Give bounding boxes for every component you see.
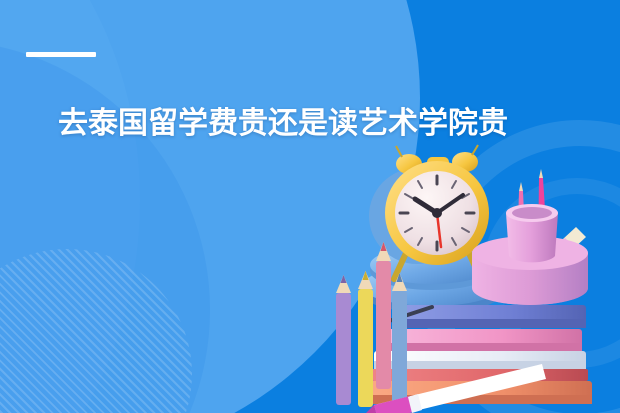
background-shade-circle [0,40,210,413]
pencil-pink [376,242,391,389]
pencil-purple [336,275,351,405]
decorative-rule [26,52,96,57]
background-striped-arc [0,249,192,413]
study-supplies-illustration [314,143,614,413]
promo-banner: 去泰国留学费贵还是读艺术学院贵 [0,0,620,413]
pencil-yellow [358,271,373,407]
pencil-cup [472,169,588,305]
pencil-blue [392,273,407,405]
background-light-circle-2 [0,0,140,413]
page-title: 去泰国留学费贵还是读艺术学院贵 [58,104,603,144]
